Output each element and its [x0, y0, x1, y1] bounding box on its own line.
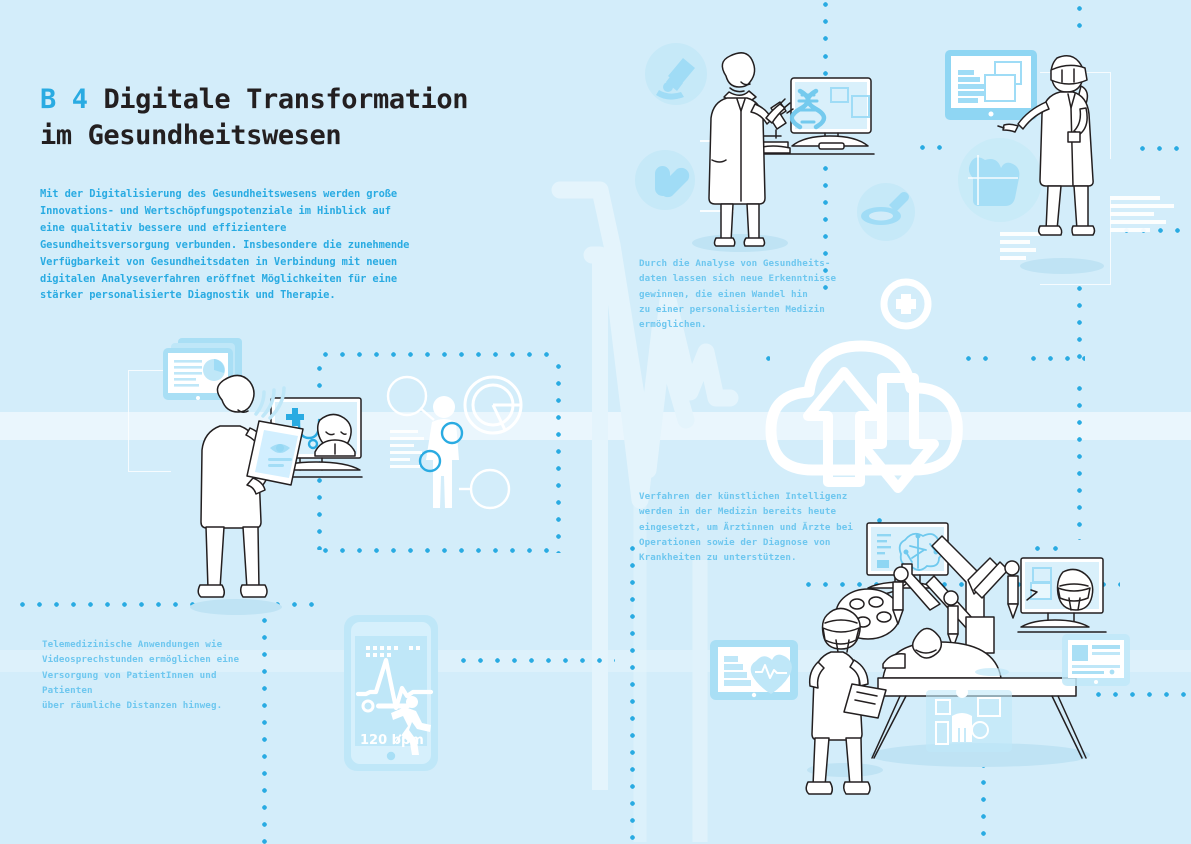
- remote-surgeon-portrait: [1058, 569, 1093, 610]
- surgery-target-glow: [975, 668, 1009, 676]
- caption-ki: Verfahren der künstlichen Intelligenz we…: [639, 489, 854, 565]
- clipboard-icon[interactable]: [844, 684, 886, 718]
- page-title: B 4 Digitale Transformation im Gesundhei…: [40, 82, 500, 154]
- caption-telemedizin: Telemedizinische Anwendungen wie Videosp…: [42, 637, 257, 713]
- intro-paragraph: Mit der Digitalisierung des Gesundheitsw…: [40, 186, 418, 304]
- chapter-number: B 4: [40, 84, 88, 115]
- patient-hologram-card[interactable]: [926, 686, 1012, 752]
- title-line-2: im Gesundheitswesen: [40, 120, 341, 151]
- patient-record-card[interactable]: [1062, 634, 1130, 686]
- infographic-canvas: 120 bpm: [0, 0, 1191, 842]
- caption-analyse: Durch die Analyse von Gesundheits- daten…: [639, 256, 854, 332]
- remote-surgeon-monitor[interactable]: [1018, 558, 1106, 632]
- title-line-1: Digitale Transformation: [103, 84, 468, 115]
- heart-ecg-tablet[interactable]: [710, 640, 798, 700]
